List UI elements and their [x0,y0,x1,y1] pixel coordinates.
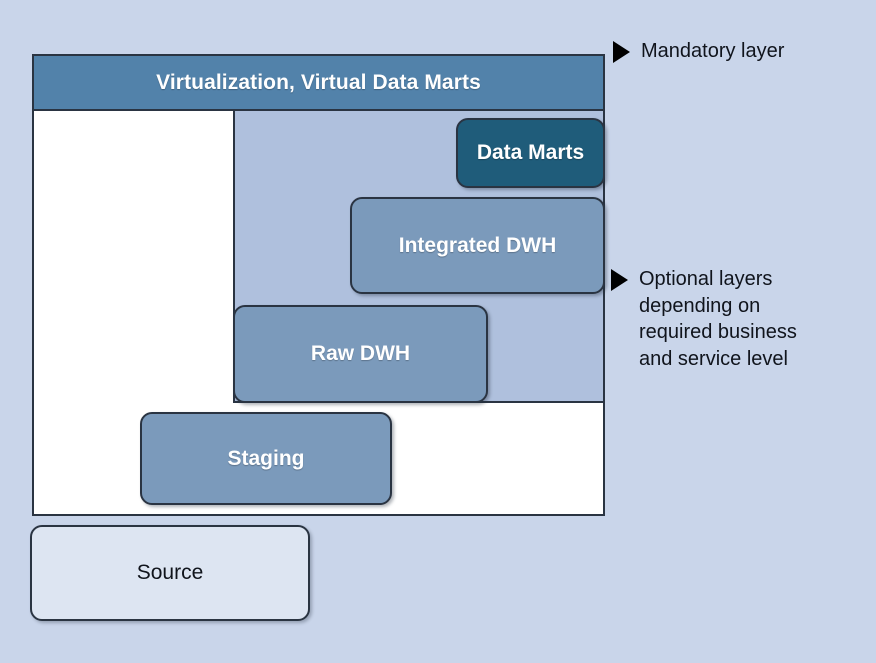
triangle-right-icon [611,269,628,291]
node-integrated-dwh-label: Integrated DWH [399,234,557,258]
node-source: Source [30,525,310,621]
virtualization-band: Virtualization, Virtual Data Marts [32,54,605,111]
annotation-optional-layers-text: Optional layers depending on required bu… [639,266,797,372]
node-data-marts-label: Data Marts [477,141,584,165]
node-data-marts: Data Marts [456,118,605,188]
node-raw-dwh: Raw DWH [233,305,488,403]
node-raw-dwh-label: Raw DWH [311,342,410,366]
virtualization-band-label: Virtualization, Virtual Data Marts [156,71,481,95]
node-integrated-dwh: Integrated DWH [350,197,605,294]
annotation-mandatory-layer-text: Mandatory layer [641,38,784,65]
annotation-mandatory-layer: Mandatory layer [613,38,784,65]
annotation-optional-layers: Optional layers depending on required bu… [611,266,866,372]
triangle-right-icon [613,41,630,63]
diagram-canvas: Virtualization, Virtual Data Marts Data … [0,0,876,663]
node-staging: Staging [140,412,392,505]
node-source-label: Source [137,561,204,585]
node-staging-label: Staging [228,447,305,471]
